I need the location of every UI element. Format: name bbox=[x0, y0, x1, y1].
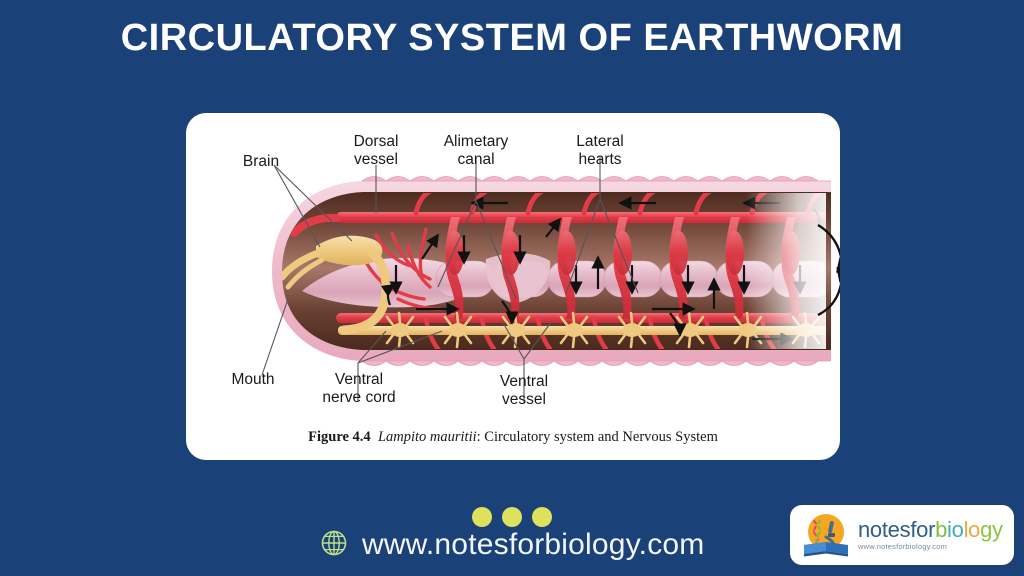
logo-name-part-3: io bbox=[947, 517, 964, 542]
figure-caption: Figure 4.4 Lampito mauritii: Circulatory… bbox=[186, 429, 840, 446]
label-dorsal-vessel: Dorsal vessel bbox=[334, 133, 418, 169]
label-ventral-nerve-cord: Ventral nerve cord bbox=[298, 371, 420, 407]
logo-name-part-4: lo bbox=[964, 517, 981, 542]
figure-description: : Circulatory system and Nervous System bbox=[477, 429, 718, 445]
footer-url[interactable]: www.notesforbiology.com bbox=[362, 528, 705, 562]
dot-3 bbox=[532, 507, 552, 527]
dot-1 bbox=[472, 507, 492, 527]
figure-panel: Brain Dorsal vessel Alimetary canal Late… bbox=[186, 113, 840, 460]
figure-number: Figure 4.4 bbox=[308, 429, 371, 445]
label-mouth: Mouth bbox=[208, 371, 298, 389]
globe-icon bbox=[320, 529, 348, 562]
microscope-book-logo-icon bbox=[798, 511, 854, 559]
book-icon bbox=[804, 542, 848, 557]
label-brain: Brain bbox=[218, 153, 304, 171]
brand-logo[interactable]: notesforbiology www.notesforbiology.com bbox=[790, 505, 1014, 565]
page-title: CIRCULATORY SYSTEM OF EARTHWORM bbox=[0, 16, 1024, 60]
logo-wordmark: notesforbiology www.notesforbiology.com bbox=[858, 519, 1003, 551]
dot-2 bbox=[502, 507, 522, 527]
figure-scientific-name: Lampito mauritii bbox=[378, 429, 477, 445]
logo-name: notesforbiology bbox=[858, 519, 1003, 541]
logo-name-part-2: b bbox=[935, 517, 947, 542]
label-ventral-vessel: Ventral vessel bbox=[470, 373, 578, 409]
label-lateral-hearts: Lateral hearts bbox=[552, 133, 648, 169]
logo-subtitle: www.notesforbiology.com bbox=[858, 542, 1003, 551]
logo-name-part-1: notesfor bbox=[858, 517, 935, 542]
logo-name-part-5: gy bbox=[980, 517, 1003, 542]
label-alimentary-canal: Alimetary canal bbox=[424, 133, 528, 169]
